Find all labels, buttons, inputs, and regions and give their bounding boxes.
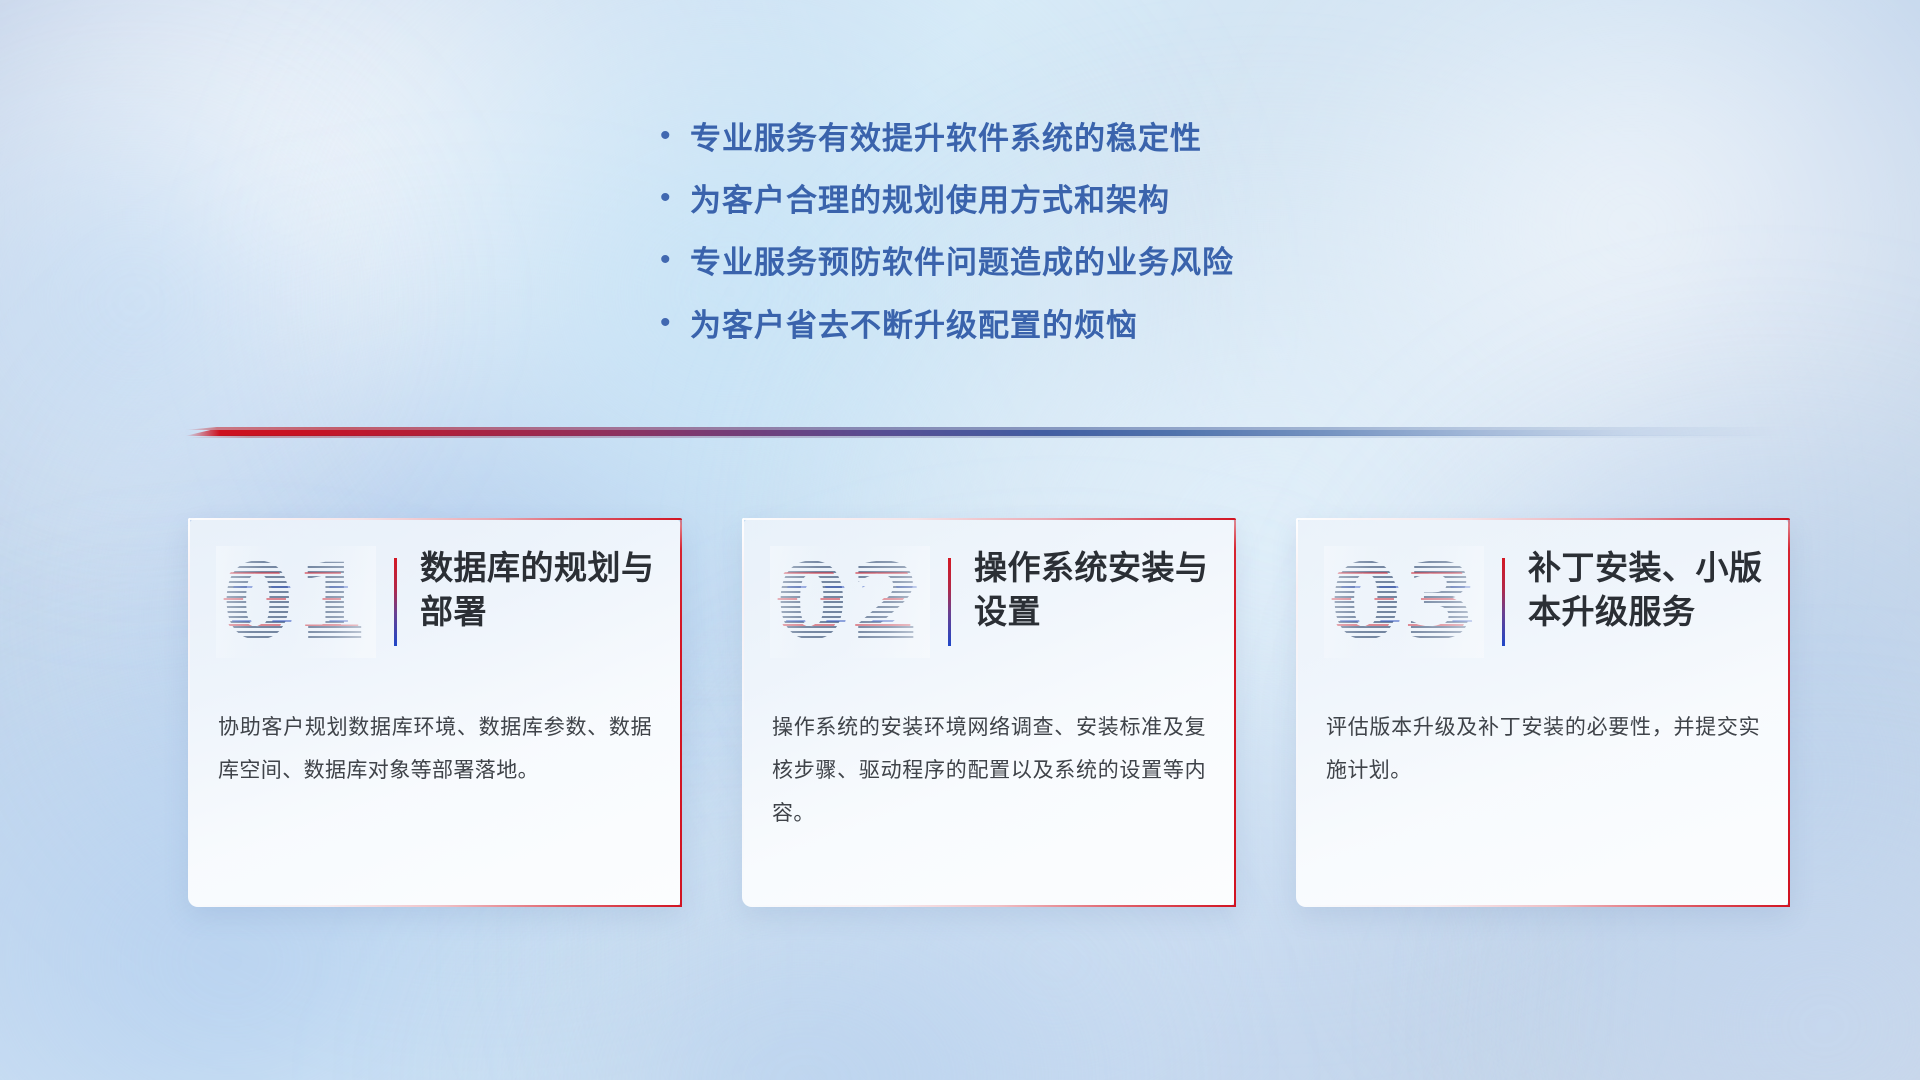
bullet-dot-icon: •: [660, 245, 690, 275]
list-item: • 为客户省去不断升级配置的烦恼: [660, 307, 1234, 344]
card-title: 数据库的规划与部署: [420, 546, 660, 633]
list-item: • 为客户合理的规划使用方式和架构: [660, 182, 1234, 219]
bullet-dot-icon: •: [660, 121, 690, 151]
service-card[interactable]: 01 01 01 数据库的规划与部署 协助客户规划数据库环境、数据库参数、数据库…: [188, 518, 682, 907]
divider-highlight: [185, 427, 1777, 430]
card-header: 01 01 01 数据库的规划与部署: [188, 518, 682, 678]
card-header: 03 03 03 补丁安装、小版本升级服务: [1296, 518, 1790, 678]
card-number-graphic: 01 01 01: [216, 546, 376, 658]
bullet-dot-icon: •: [660, 183, 690, 213]
card-title-rule: [948, 558, 951, 646]
benefit-bullet-list: • 专业服务有效提升软件系统的稳定性 • 为客户合理的规划使用方式和架构 • 专…: [660, 120, 1234, 369]
card-number-blue-ghost: 01: [220, 552, 380, 664]
card-border-bottom: [188, 905, 682, 908]
bullet-dot-icon: •: [660, 308, 690, 338]
bullet-text: 为客户合理的规划使用方式和架构: [690, 182, 1170, 219]
card-title: 操作系统安装与设置: [974, 546, 1214, 633]
card-border-bottom: [1296, 905, 1790, 908]
card-number-graphic: 02 02 02: [770, 546, 930, 658]
bullet-text: 专业服务预防软件问题造成的业务风险: [690, 244, 1234, 281]
card-title-rule: [1502, 558, 1505, 646]
divider-shadow: [185, 435, 1777, 438]
card-border-bottom: [742, 905, 1236, 908]
card-number-graphic: 03 03 03: [1324, 546, 1484, 658]
card-title: 补丁安装、小版本升级服务: [1528, 546, 1768, 633]
bullet-text: 专业服务有效提升软件系统的稳定性: [690, 120, 1202, 157]
card-title-rule: [394, 558, 397, 646]
bullet-text: 为客户省去不断升级配置的烦恼: [690, 307, 1138, 344]
card-number-blue-ghost: 02: [774, 552, 934, 664]
service-card[interactable]: 03 03 03 补丁安装、小版本升级服务 评估版本升级及补丁安装的必要性，并提…: [1296, 518, 1790, 907]
section-divider: [185, 424, 1777, 440]
list-item: • 专业服务预防软件问题造成的业务风险: [660, 244, 1234, 281]
list-item: • 专业服务有效提升软件系统的稳定性: [660, 120, 1234, 157]
card-body-text: 操作系统的安装环境网络调查、安装标准及复核步骤、驱动程序的配置以及系统的设置等内…: [772, 706, 1206, 835]
card-header: 02 02 02 操作系统安装与设置: [742, 518, 1236, 678]
card-body-text: 评估版本升级及补丁安装的必要性，并提交实施计划。: [1326, 706, 1760, 792]
card-number-blue-ghost: 03: [1328, 552, 1488, 664]
card-body-text: 协助客户规划数据库环境、数据库参数、数据库空间、数据库对象等部署落地。: [218, 706, 652, 792]
service-card[interactable]: 02 02 02 操作系统安装与设置 操作系统的安装环境网络调查、安装标准及复核…: [742, 518, 1236, 907]
